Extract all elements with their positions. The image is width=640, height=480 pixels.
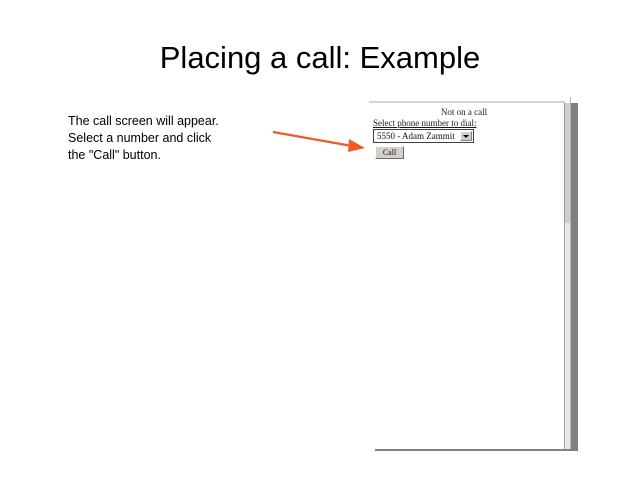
phone-select-value: 5550 - Adam Zammit [377, 131, 455, 141]
call-status-text: Not on a call [369, 107, 559, 117]
scrollbar-thumb[interactable] [565, 103, 570, 223]
window-top-divider [369, 101, 565, 103]
instruction-line-3: the "Call" button. [68, 147, 283, 164]
instruction-text: The call screen will appear. Select a nu… [68, 113, 283, 164]
instruction-line-2: Select a number and click [68, 130, 283, 147]
call-button[interactable]: Call [375, 146, 404, 159]
app-window: Not on a call Select phone number to dia… [369, 97, 571, 449]
app-screenshot-panel: Not on a call Select phone number to dia… [369, 97, 571, 449]
instruction-line-1: The call screen will appear. [68, 113, 283, 130]
phone-number-select[interactable]: 5550 - Adam Zammit [373, 129, 474, 143]
chevron-down-icon[interactable] [460, 131, 472, 141]
vertical-scrollbar[interactable] [564, 103, 570, 449]
phone-select-label: Select phone number to dial: [373, 118, 476, 128]
panel-shadow-right [571, 103, 578, 451]
page-title: Placing a call: Example [0, 40, 640, 76]
